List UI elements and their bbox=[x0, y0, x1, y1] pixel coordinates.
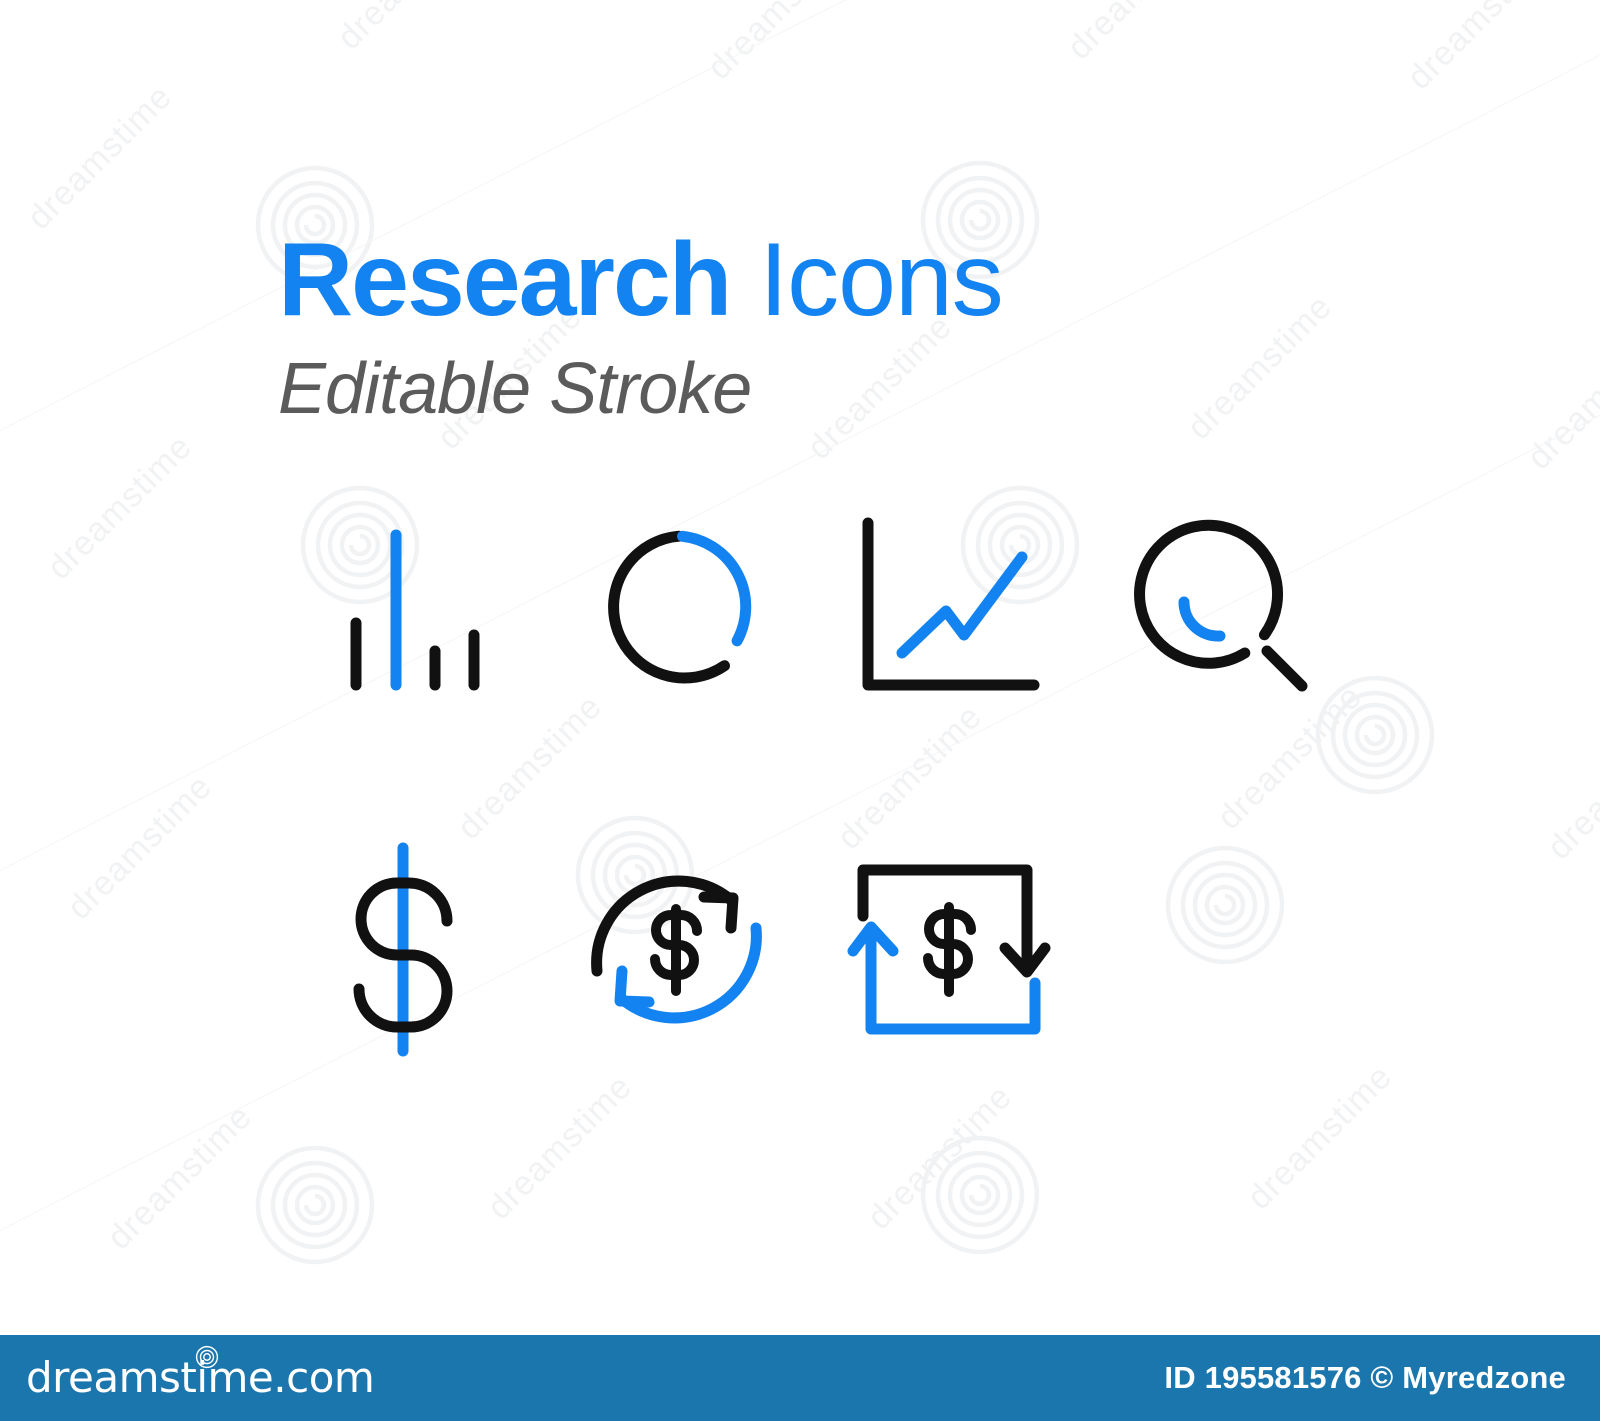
watermark-text: dreamstime bbox=[1060, 0, 1220, 68]
poster-canvas: dreamstime dreamstime dreamstime dreamst… bbox=[0, 0, 1600, 1421]
line-graph-icon[interactable] bbox=[813, 492, 1086, 722]
watermark-text: dreamstime bbox=[700, 0, 860, 88]
bar-chart-icon[interactable] bbox=[268, 492, 541, 722]
donut-chart-icon[interactable] bbox=[541, 492, 814, 722]
watermark-text: dreamstime bbox=[20, 77, 180, 237]
icon-row bbox=[268, 492, 1358, 722]
icon-row bbox=[268, 834, 1358, 1064]
icon-grid bbox=[268, 492, 1358, 1064]
watermark-text: dreamstime bbox=[330, 0, 490, 58]
dreamstime-logo[interactable]: dreamstime.com bbox=[26, 1357, 374, 1399]
watermark-text: dreamstime bbox=[1400, 0, 1560, 98]
image-credit: ID 195581576 © Myredzone bbox=[1164, 1360, 1566, 1396]
spiral-watermark-icon bbox=[240, 1130, 390, 1280]
watermark-text: dreamstime bbox=[100, 1097, 260, 1257]
icon-cell-empty bbox=[1086, 834, 1359, 1064]
poster-heading: Research Icons Editable Stroke bbox=[278, 228, 1003, 430]
watermark-text: dreamstime bbox=[1520, 317, 1600, 477]
page-title-strong: Research bbox=[278, 222, 730, 338]
footer-bar: dreamstime.com ID 195581576 © Myredzone bbox=[0, 1335, 1600, 1421]
watermark-text: dreamstime bbox=[60, 767, 220, 927]
watermark-text: dreamstime bbox=[40, 427, 200, 587]
watermark-text: dreamstime bbox=[1240, 1057, 1400, 1217]
page-title: Research Icons bbox=[278, 228, 1003, 332]
page-subtitle: Editable Stroke bbox=[278, 348, 1003, 430]
dollar-sign-icon[interactable] bbox=[268, 834, 541, 1064]
watermark-text: dreamstime bbox=[1540, 707, 1600, 867]
watermark-text: dreamstime bbox=[860, 1077, 1020, 1237]
currency-exchange-icon[interactable] bbox=[541, 834, 814, 1064]
money-transfer-icon[interactable] bbox=[813, 834, 1086, 1064]
watermark-text: dreamstime bbox=[1180, 287, 1340, 447]
watermark-text: dreamstime bbox=[480, 1067, 640, 1227]
spiral-logo-icon bbox=[194, 1344, 220, 1370]
magnifier-search-icon[interactable] bbox=[1086, 492, 1359, 722]
page-title-light: Icons bbox=[759, 222, 1003, 338]
spiral-watermark-icon bbox=[905, 1120, 1055, 1270]
